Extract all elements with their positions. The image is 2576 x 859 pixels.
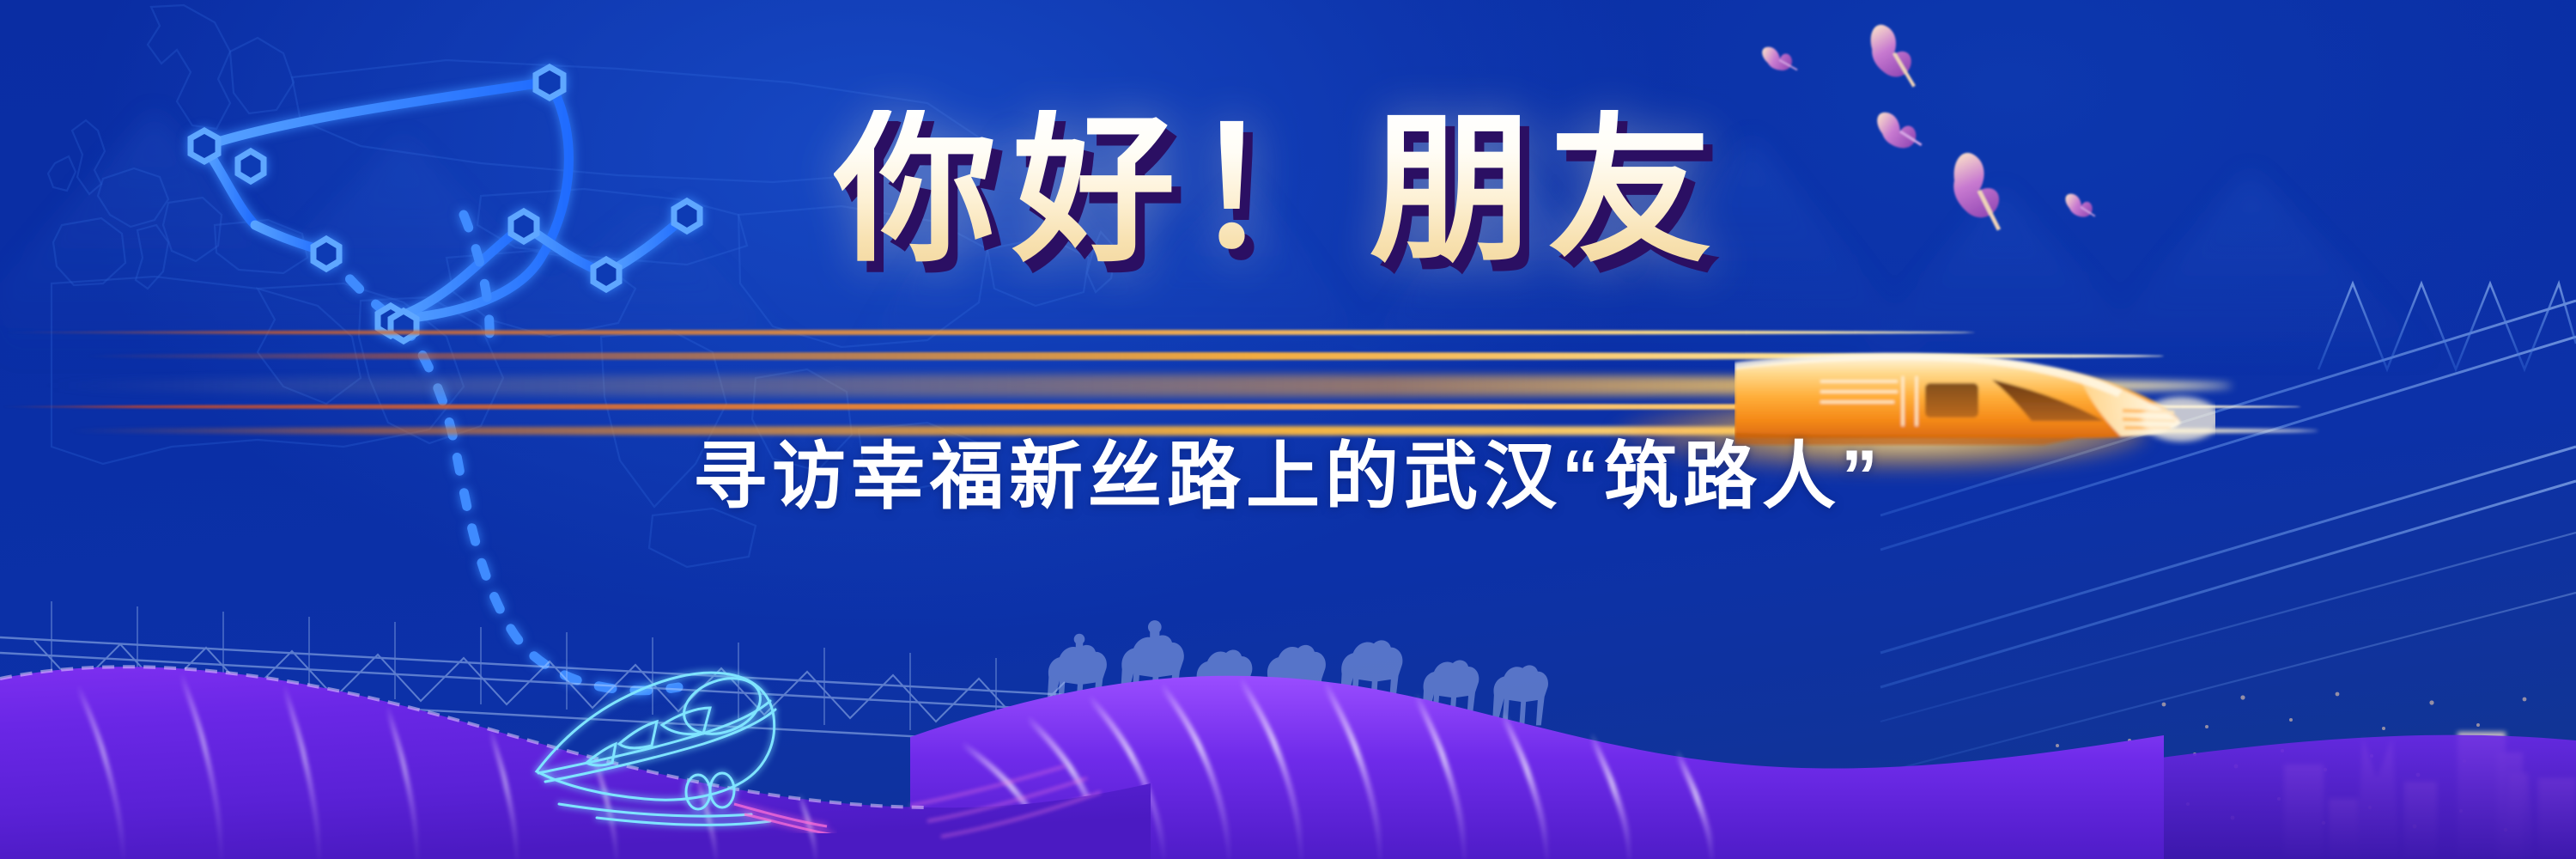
neon-outline-high-speed-train [477,636,837,833]
banner-root: 你好！朋友 寻访幸福新丝路上的武汉“筑路人” [0,0,2576,859]
headline-block: 你好！朋友 [0,110,2576,273]
page-title: 你好！朋友 [834,110,1742,273]
page-subtitle: 寻访幸福新丝路上的武汉“筑路人” [0,440,2576,514]
